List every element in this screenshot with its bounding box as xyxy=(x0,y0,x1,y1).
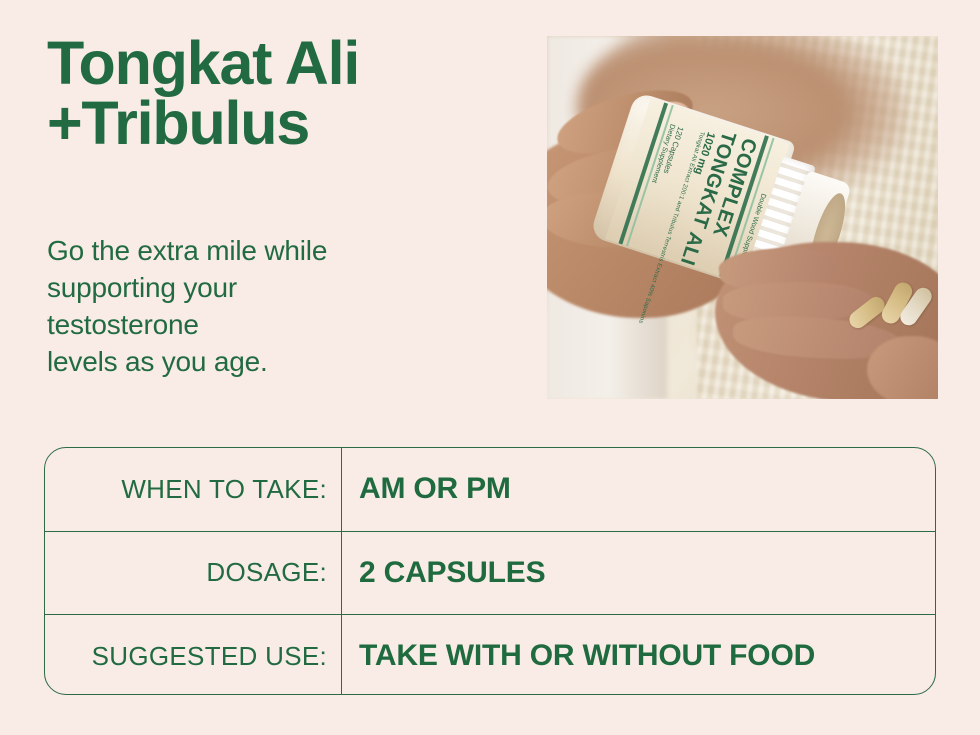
row-label-dosage: DOSAGE: xyxy=(45,532,342,615)
photo-background: TONGKAT ALI COMPLEX 1020 mg Tongkat Ali … xyxy=(547,36,938,399)
label-stripe xyxy=(626,105,674,246)
table-row: SUGGESTED USE: TAKE WITH OR WITHOUT FOOD xyxy=(45,615,935,695)
row-value-suggested-use: TAKE WITH OR WITHOUT FOOD xyxy=(342,615,935,695)
headline-block: Tongkat Ali +Tribulus xyxy=(47,34,517,154)
row-value-dosage: 2 CAPSULES xyxy=(342,532,935,615)
row-label-when-to-take: WHEN TO TAKE: xyxy=(45,448,342,531)
product-info-card: Tongkat Ali +Tribulus Go the extra mile … xyxy=(0,0,980,735)
row-label-suggested-use: SUGGESTED USE: xyxy=(45,615,342,695)
table-row: DOSAGE: 2 CAPSULES xyxy=(45,532,935,616)
product-info-table: WHEN TO TAKE: AM OR PM DOSAGE: 2 CAPSULE… xyxy=(44,447,936,695)
page-title: Tongkat Ali +Tribulus xyxy=(47,34,517,154)
page-subtitle: Go the extra mile while supporting your … xyxy=(47,233,447,381)
row-value-when-to-take: AM OR PM xyxy=(342,448,935,531)
label-stripe xyxy=(618,102,668,244)
product-photo: TONGKAT ALI COMPLEX 1020 mg Tongkat Ali … xyxy=(547,36,938,399)
table-row: WHEN TO TAKE: AM OR PM xyxy=(45,448,935,532)
